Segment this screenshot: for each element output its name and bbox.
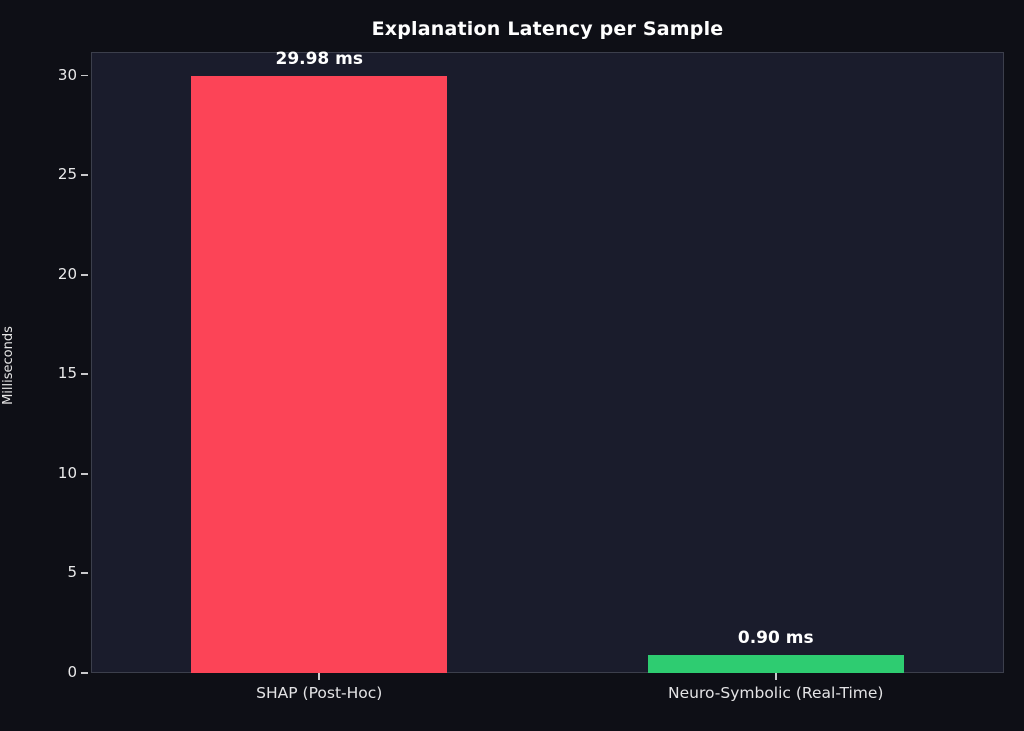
y-axis-tick-mark — [81, 174, 88, 176]
bar[interactable] — [191, 76, 447, 673]
plot-area — [91, 52, 1004, 673]
bar-value-label: 29.98 ms — [275, 49, 363, 69]
chart-figure: Explanation Latency per Sample Milliseco… — [0, 0, 1024, 731]
y-axis-tick-label: 30 — [58, 66, 77, 84]
y-axis-tick-mark — [81, 373, 88, 375]
x-axis-tick-mark — [775, 673, 777, 680]
y-axis-tick-label: 5 — [67, 563, 77, 581]
y-axis-tick-label: 10 — [58, 464, 77, 482]
bar[interactable] — [648, 655, 904, 673]
x-axis-tick-label: Neuro-Symbolic (Real-Time) — [668, 684, 883, 702]
y-axis-tick-mark — [81, 572, 88, 574]
y-axis-tick-mark — [81, 672, 88, 674]
y-axis-tick-mark — [81, 274, 88, 276]
y-axis-tick-label: 20 — [58, 265, 77, 283]
x-axis-tick-label: SHAP (Post-Hoc) — [256, 684, 382, 702]
bar-value-label: 0.90 ms — [738, 628, 814, 648]
y-axis-tick-mark — [81, 473, 88, 475]
y-axis-label: Milliseconds — [26, 0, 52, 731]
y-axis-tick-label: 15 — [58, 364, 77, 382]
x-axis-tick-mark — [318, 673, 320, 680]
y-axis-tick-label: 0 — [67, 663, 77, 681]
y-axis-label-text: Milliseconds — [0, 0, 22, 731]
chart-title: Explanation Latency per Sample — [91, 18, 1004, 40]
y-axis-tick-mark — [81, 75, 88, 77]
y-axis-tick-label: 25 — [58, 165, 77, 183]
